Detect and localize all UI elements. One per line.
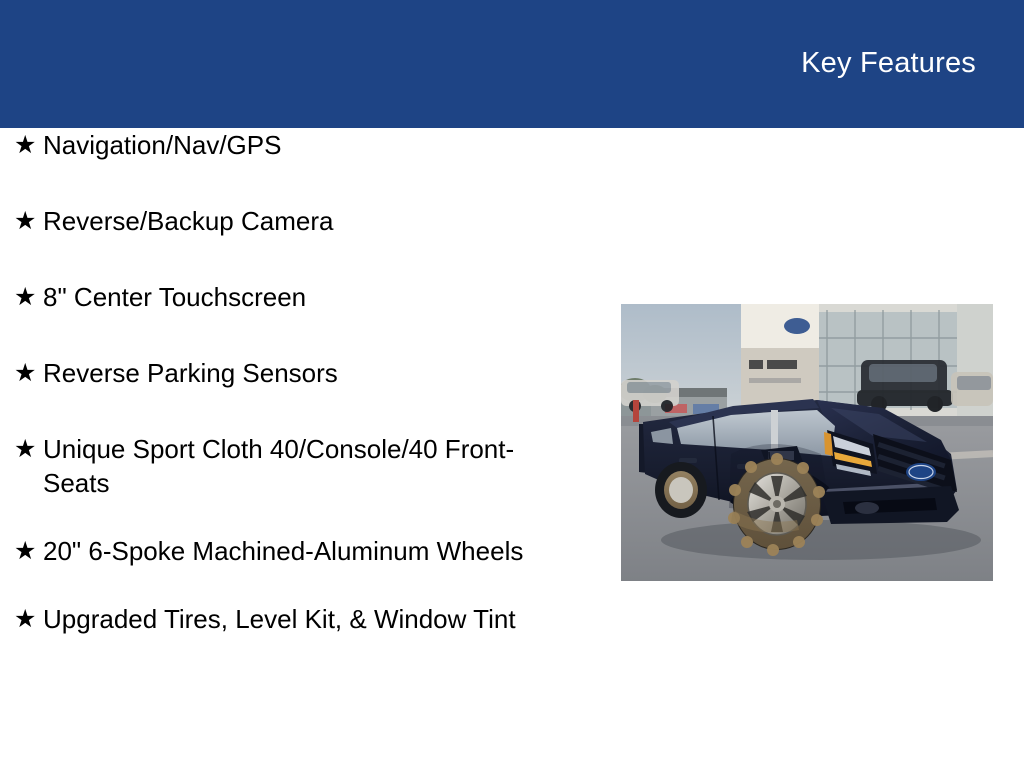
vehicle-photo [621,304,993,581]
feature-label: 20" 6-Spoke Machined-Aluminum Wheels [43,534,523,568]
list-item: ★ 20" 6-Spoke Machined-Aluminum Wheels [0,534,600,568]
star-icon: ★ [14,432,43,466]
star-icon: ★ [14,204,43,238]
star-icon: ★ [14,356,43,390]
page-title: Key Features [801,47,1024,82]
slide-header: Key Features [0,0,1024,128]
feature-label: Unique Sport Cloth 40/Console/40 Front-S… [43,432,543,500]
list-item: ★ Upgraded Tires, Level Kit, & Window Ti… [0,602,600,636]
star-icon: ★ [14,280,43,314]
list-item: ★ Navigation/Nav/GPS [0,128,600,162]
slide: Key Features ★ Navigation/Nav/GPS ★ Reve… [0,0,1024,768]
star-icon: ★ [14,128,43,162]
star-icon: ★ [14,534,43,568]
list-item: ★ Unique Sport Cloth 40/Console/40 Front… [0,432,600,500]
list-item: ★ Reverse/Backup Camera [0,204,600,238]
key-features-list: ★ Navigation/Nav/GPS ★ Reverse/Backup Ca… [0,128,600,670]
feature-label: 8" Center Touchscreen [43,280,306,314]
feature-label: Reverse/Backup Camera [43,204,333,238]
star-icon: ★ [14,602,43,636]
feature-label: Upgraded Tires, Level Kit, & Window Tint [43,602,516,636]
list-item: ★ Reverse Parking Sensors [0,356,600,390]
feature-label: Navigation/Nav/GPS [43,128,281,162]
list-item: ★ 8" Center Touchscreen [0,280,600,314]
feature-label: Reverse Parking Sensors [43,356,338,390]
